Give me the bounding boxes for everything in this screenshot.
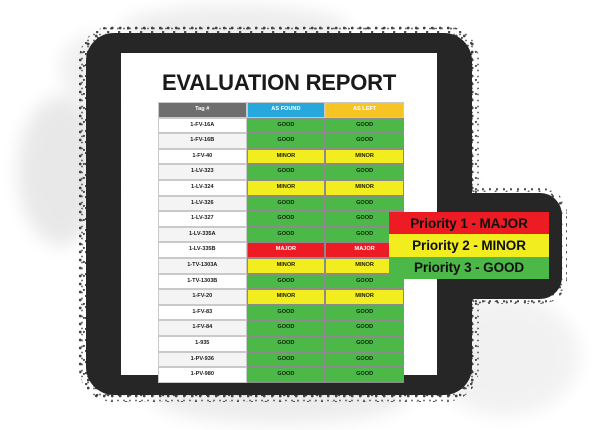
cell-as-found: GOOD — [247, 118, 326, 134]
table-row: 1-FV-16BGOODGOOD — [158, 133, 404, 149]
cell-tag: 1-FV-84 — [158, 320, 247, 336]
cell-tag: 1-LV-335A — [158, 227, 247, 243]
cell-as-left: GOOD — [325, 352, 404, 368]
cell-as-found: MAJOR — [247, 242, 326, 258]
evaluation-table: Tag # AS FOUND AS LEFT 1-FV-16AGOODGOOD1… — [158, 102, 404, 383]
table-row: 1-FV-83GOODGOOD — [158, 305, 404, 321]
cell-tag: 1-PV-936 — [158, 352, 247, 368]
table-row: 1-935GOODGOOD — [158, 336, 404, 352]
cell-as-left: GOOD — [325, 367, 404, 383]
cell-as-found: GOOD — [247, 352, 326, 368]
cell-tag: 1-TV-1303A — [158, 258, 247, 274]
cell-as-found: MINOR — [247, 258, 326, 274]
table-row: 1-FV-16AGOODGOOD — [158, 118, 404, 134]
cell-as-left: MINOR — [325, 180, 404, 196]
page-title: EVALUATION REPORT — [121, 70, 437, 96]
cell-as-left: GOOD — [325, 164, 404, 180]
cell-tag: 1-FV-16B — [158, 133, 247, 149]
cell-as-left: MINOR — [325, 149, 404, 165]
cell-as-left: MINOR — [325, 289, 404, 305]
table-row: 1-PV-936GOODGOOD — [158, 352, 404, 368]
table-row: 1-LV-335AGOODGOOD — [158, 227, 404, 243]
table-row: 1-TV-1303BGOODGOOD — [158, 274, 404, 290]
cell-tag: 1-LV-326 — [158, 196, 247, 212]
cell-as-found: GOOD — [247, 164, 326, 180]
table-header-row: Tag # AS FOUND AS LEFT — [158, 102, 404, 118]
legend-label: Priority 3 - GOOD — [414, 260, 524, 275]
column-header-as-found: AS FOUND — [247, 102, 326, 118]
cell-tag: 1-LV-323 — [158, 164, 247, 180]
cell-tag: 1-LV-327 — [158, 211, 247, 227]
legend-item-priority-1: Priority 1 - MAJOR — [389, 212, 549, 234]
cell-tag: 1-FV-16A — [158, 118, 247, 134]
cell-as-left: GOOD — [325, 336, 404, 352]
cell-as-left: GOOD — [325, 320, 404, 336]
legend-item-priority-2: Priority 2 - MINOR — [389, 234, 549, 256]
cell-as-found: GOOD — [247, 196, 326, 212]
cell-as-left: GOOD — [325, 118, 404, 134]
cell-tag: 1-FV-83 — [158, 305, 247, 321]
table-header: Tag # AS FOUND AS LEFT — [158, 102, 404, 118]
table-row: 1-LV-335BMAJORMAJOR — [158, 242, 404, 258]
table-row: 1-LV-327GOODGOOD — [158, 211, 404, 227]
priority-legend: Priority 1 - MAJOR Priority 2 - MINOR Pr… — [389, 212, 549, 279]
cell-tag: 1-FV-20 — [158, 289, 247, 305]
screenshot-canvas: EVALUATION REPORT Tag # AS FOUND AS LEFT… — [0, 0, 600, 430]
legend-label: Priority 1 - MAJOR — [410, 216, 527, 231]
cell-as-found: MINOR — [247, 180, 326, 196]
cell-as-found: GOOD — [247, 227, 326, 243]
cell-as-found: GOOD — [247, 305, 326, 321]
legend-label: Priority 2 - MINOR — [412, 238, 526, 253]
cell-as-found: GOOD — [247, 133, 326, 149]
column-header-tag: Tag # — [158, 102, 247, 118]
cell-tag: 1-LV-335B — [158, 242, 247, 258]
table-row: 1-LV-324MINORMINOR — [158, 180, 404, 196]
cell-as-left: GOOD — [325, 196, 404, 212]
cell-as-found: GOOD — [247, 211, 326, 227]
table-row: 1-PV-980GOODGOOD — [158, 367, 404, 383]
cell-tag: 1-PV-980 — [158, 367, 247, 383]
cell-tag: 1-LV-324 — [158, 180, 247, 196]
table-row: 1-LV-323GOODGOOD — [158, 164, 404, 180]
table-row: 1-FV-40MINORMINOR — [158, 149, 404, 165]
cell-tag: 1-TV-1303B — [158, 274, 247, 290]
cell-as-found: GOOD — [247, 336, 326, 352]
cell-as-found: GOOD — [247, 274, 326, 290]
table-row: 1-LV-326GOODGOOD — [158, 196, 404, 212]
table-row: 1-FV-20MINORMINOR — [158, 289, 404, 305]
cell-as-left: GOOD — [325, 305, 404, 321]
table-row: 1-TV-1303AMINORMINOR — [158, 258, 404, 274]
cell-as-left: GOOD — [325, 133, 404, 149]
cell-as-found: MINOR — [247, 149, 326, 165]
table-row: 1-FV-84GOODGOOD — [158, 320, 404, 336]
cell-tag: 1-FV-40 — [158, 149, 247, 165]
cell-as-found: GOOD — [247, 320, 326, 336]
cell-as-found: MINOR — [247, 289, 326, 305]
column-header-as-left: AS LEFT — [325, 102, 404, 118]
cell-as-found: GOOD — [247, 367, 326, 383]
legend-item-priority-3: Priority 3 - GOOD — [389, 257, 549, 279]
table-body: 1-FV-16AGOODGOOD1-FV-16BGOODGOOD1-FV-40M… — [158, 118, 404, 383]
cell-tag: 1-935 — [158, 336, 247, 352]
